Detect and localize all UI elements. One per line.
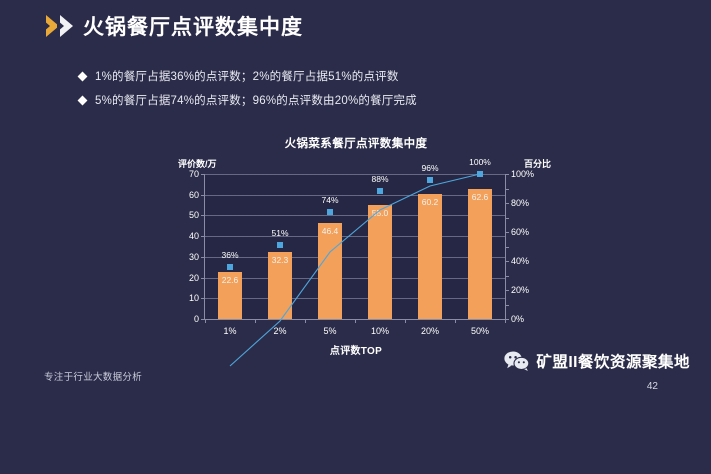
- line-value-label: 100%: [469, 157, 491, 167]
- x-axis-title: 点评数TOP: [160, 342, 552, 357]
- cumulative-line: [205, 174, 505, 474]
- y2-axis-tick-mark: [505, 232, 509, 233]
- y-axis-tick-label: 0: [194, 314, 199, 324]
- diamond-bullet-icon: [78, 71, 88, 81]
- line-series: 36%51%74%88%96%100%: [205, 174, 505, 319]
- y2-axis-tick-mark: [505, 189, 509, 190]
- x-axis-tick-label: 2%: [273, 326, 286, 336]
- y2-axis-tick-label: 60%: [511, 227, 529, 237]
- x-axis-tick-mark: [255, 319, 256, 323]
- x-axis-tick-mark: [505, 319, 506, 323]
- x-axis-tick-mark: [355, 319, 356, 323]
- x-axis-tick-mark: [405, 319, 406, 323]
- line-marker: [427, 177, 433, 183]
- y2-axis-tick-mark: [505, 290, 509, 291]
- x-axis-tick-mark: [455, 319, 456, 323]
- y2-axis-tick-label: 20%: [511, 285, 529, 295]
- line-marker: [477, 171, 483, 177]
- y-axis-tick-mark: [201, 174, 205, 175]
- line-value-label: 36%: [221, 250, 238, 260]
- y-axis-tick-label: 20: [189, 273, 199, 283]
- line-marker: [377, 188, 383, 194]
- slide-canvas: 火锅餐厅点评数集中度 1%的餐厅占据36%的点评数；2%的餐厅占据51%的点评数…: [0, 0, 711, 400]
- footer-note: 专注于行业大数据分析: [44, 369, 142, 383]
- y2-axis-tick-label: 0%: [511, 314, 524, 324]
- bullet-list: 1%的餐厅占据36%的点评数；2%的餐厅占据51%的点评数 5%的餐厅占据74%…: [79, 68, 417, 108]
- diamond-bullet-icon: [78, 95, 88, 105]
- y2-axis-tick-mark: [505, 261, 509, 262]
- chart-panel: 火锅菜系餐厅点评数集中度 评价数/万 百分比 22.632.346.455.06…: [160, 133, 552, 365]
- y2-axis-tick-mark: [505, 247, 509, 248]
- y2-axis-tick-mark: [505, 174, 509, 175]
- y2-axis-tick-mark: [505, 218, 509, 219]
- line-marker: [227, 264, 233, 270]
- chevron-right-icon-white: [60, 15, 73, 37]
- y-axis-tick-mark: [201, 278, 205, 279]
- line-value-label: 96%: [421, 163, 438, 173]
- brand-badge: 矿盟II餐饮资源聚集地: [504, 350, 690, 372]
- y-axis-tick-label: 10: [189, 293, 199, 303]
- y-axis-tick-label: 40: [189, 231, 199, 241]
- plot-area: 22.632.346.455.060.262.6 36%51%74%88%96%…: [204, 174, 506, 320]
- y2-axis-tick-label: 100%: [511, 169, 534, 179]
- x-axis-tick-label: 1%: [223, 326, 236, 336]
- y2-axis-tick-mark: [505, 305, 509, 306]
- y-axis-tick-label: 50: [189, 210, 199, 220]
- plot-area-wrapper: 22.632.346.455.060.262.6 36%51%74%88%96%…: [204, 174, 506, 320]
- line-marker: [277, 242, 283, 248]
- y2-axis-tick-label: 80%: [511, 198, 529, 208]
- brand-name: 矿盟II餐饮资源聚集地: [536, 350, 690, 372]
- y2-axis-tick-mark: [505, 203, 509, 204]
- bullet-text: 1%的餐厅占据36%的点评数；2%的餐厅占据51%的点评数: [95, 68, 399, 84]
- page-title: 火锅餐厅点评数集中度: [83, 11, 303, 41]
- list-item: 5%的餐厅占据74%的点评数；96%的点评数由20%的餐厅完成: [79, 92, 417, 108]
- y-axis-tick-mark: [201, 257, 205, 258]
- y-axis-tick-label: 70: [189, 169, 199, 179]
- double-chevron-icon: [46, 15, 73, 37]
- y-axis-tick-mark: [201, 215, 205, 216]
- line-marker: [327, 209, 333, 215]
- page-number: 42: [647, 381, 658, 392]
- y-axis-tick-mark: [201, 298, 205, 299]
- line-value-label: 51%: [271, 228, 288, 238]
- line-value-label: 88%: [371, 174, 388, 184]
- x-axis-tick-label: 50%: [471, 326, 489, 336]
- wechat-icon: [504, 351, 530, 371]
- line-value-label: 74%: [321, 195, 338, 205]
- x-axis-tick-mark: [305, 319, 306, 323]
- y-axis-tick-mark: [201, 195, 205, 196]
- y2-axis-tick-label: 40%: [511, 256, 529, 266]
- x-axis-tick-label: 5%: [323, 326, 336, 336]
- chart-title: 火锅菜系餐厅点评数集中度: [160, 135, 552, 151]
- x-axis-tick-label: 10%: [371, 326, 389, 336]
- y-axis-tick-label: 30: [189, 252, 199, 262]
- y-axis-tick-mark: [201, 236, 205, 237]
- x-axis-tick-label: 20%: [421, 326, 439, 336]
- list-item: 1%的餐厅占据36%的点评数；2%的餐厅占据51%的点评数: [79, 68, 417, 84]
- bullet-text: 5%的餐厅占据74%的点评数；96%的点评数由20%的餐厅完成: [95, 92, 417, 108]
- y-axis-tick-label: 60: [189, 190, 199, 200]
- y2-axis-tick-mark: [505, 276, 509, 277]
- x-axis-tick-mark: [205, 319, 206, 323]
- slide-header: 火锅餐厅点评数集中度: [46, 11, 303, 41]
